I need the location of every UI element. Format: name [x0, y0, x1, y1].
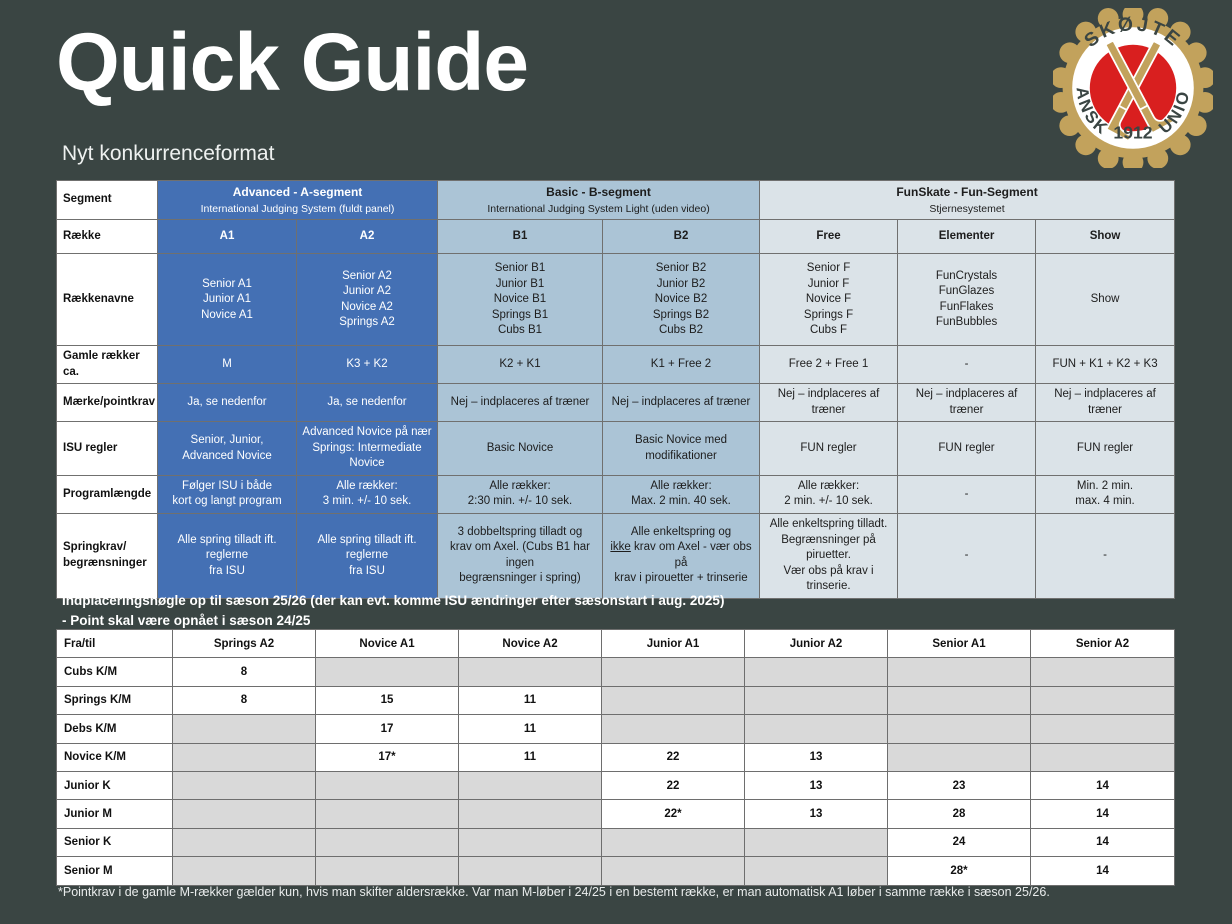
points-cell: 13	[745, 743, 888, 771]
points-cell: 22	[602, 771, 745, 799]
points-cell: 15	[316, 686, 459, 714]
segment-title: Basic - B-segment	[442, 184, 755, 200]
empty-cell	[745, 715, 888, 743]
row-header: Programlængde	[57, 475, 158, 513]
table-cell: Nej – indplaceres af træner	[438, 384, 603, 422]
table-row: Novice K/M17*112213	[57, 743, 1175, 771]
segment-title: Advanced - A-segment	[162, 184, 433, 200]
empty-cell	[173, 857, 316, 885]
table-cell: Basic Novice med modifikationer	[603, 422, 760, 476]
points-cell: 28*	[888, 857, 1031, 885]
table-cell: Senior, Junior,Advanced Novice	[158, 422, 297, 476]
table-cell: Elementer	[898, 220, 1036, 254]
table-row: Senior K2414	[57, 828, 1175, 856]
empty-cell	[316, 771, 459, 799]
dansk-skoejte-union-logo: SKØJTE DANSK UNION 1912	[1053, 8, 1213, 168]
segment-subtitle: International Judging System (fuldt pane…	[162, 202, 433, 216]
points-cell: 11	[459, 686, 602, 714]
empty-cell	[602, 658, 745, 686]
table-cell: Alle spring tilladt ift. reglernefra ISU	[297, 514, 438, 599]
table-cell: B1	[438, 220, 603, 254]
empty-cell	[173, 828, 316, 856]
row-header: Gamle rækker ca.	[57, 346, 158, 384]
row-header: Debs K/M	[57, 715, 173, 743]
table-row: ProgramlængdeFølger ISU i bådekort og la…	[57, 475, 1175, 513]
row-header: Springs K/M	[57, 686, 173, 714]
points-cell: 17	[316, 715, 459, 743]
table-cell: K2 + K1	[438, 346, 603, 384]
table-row: SegmentAdvanced - A-segmentInternational…	[57, 181, 1175, 220]
empty-cell	[459, 800, 602, 828]
empty-cell	[888, 743, 1031, 771]
table-cell: -	[1036, 514, 1175, 599]
row-header: Junior K	[57, 771, 173, 799]
column-header: Senior A1	[888, 630, 1031, 658]
column-header: Novice A2	[459, 630, 602, 658]
table-row: Gamle rækker ca.MK3 + K2K2 + K1K1 + Free…	[57, 346, 1175, 384]
points-cell: 14	[1031, 828, 1175, 856]
column-header: Junior A1	[602, 630, 745, 658]
row-header: ISU regler	[57, 422, 158, 476]
row-header: Rækkenavne	[57, 254, 158, 346]
table-cell: Show	[1036, 220, 1175, 254]
empty-cell	[459, 857, 602, 885]
caption-line: Indplaceringsnøgle op til sæson 25/26 (d…	[62, 591, 1172, 611]
row-header-segment: Segment	[57, 181, 158, 220]
footnote-text: *Pointkrav i de gamle M-rækker gælder ku…	[58, 884, 1188, 900]
table-cell: Senior A2Junior A2Novice A2Springs A2	[297, 254, 438, 346]
column-header: Junior A2	[745, 630, 888, 658]
column-header: Fra/til	[57, 630, 173, 658]
row-header: Mærke/pointkrav	[57, 384, 158, 422]
table-cell: Alle rækker:2:30 min. +/- 10 sek.	[438, 475, 603, 513]
placement-key-table: Fra/tilSprings A2Novice A1Novice A2Junio…	[56, 629, 1175, 886]
column-header: Springs A2	[173, 630, 316, 658]
empty-cell	[316, 857, 459, 885]
table-cell: FUN + K1 + K2 + K3	[1036, 346, 1175, 384]
table-cell: Min. 2 min.max. 4 min.	[1036, 475, 1175, 513]
empty-cell	[459, 658, 602, 686]
points-cell: 24	[888, 828, 1031, 856]
segment-header-basic: Basic - B-segmentInternational Judging S…	[438, 181, 760, 220]
table-cell: Alle enkeltspring ogikke krav om Axel - …	[603, 514, 760, 599]
empty-cell	[173, 743, 316, 771]
table-row: Junior K22132314	[57, 771, 1175, 799]
table-cell: Følger ISU i bådekort og langt program	[158, 475, 297, 513]
points-cell: 8	[173, 686, 316, 714]
segment-header-funskate: FunSkate - Fun-SegmentStjernesystemet	[760, 181, 1175, 220]
segment-subtitle: Stjernesystemet	[764, 202, 1170, 216]
table-cell: Senior B1Junior B1Novice B1Springs B1Cub…	[438, 254, 603, 346]
table-row: Debs K/M1711	[57, 715, 1175, 743]
segment-subtitle: International Judging System Light (uden…	[442, 202, 755, 216]
empty-cell	[1031, 715, 1175, 743]
table-cell: FUN regler	[760, 422, 898, 476]
row-header: Senior M	[57, 857, 173, 885]
empty-cell	[745, 828, 888, 856]
segment-header-advanced: Advanced - A-segmentInternational Judgin…	[158, 181, 438, 220]
points-cell: 22	[602, 743, 745, 771]
points-cell: 13	[745, 771, 888, 799]
points-cell: 14	[1031, 771, 1175, 799]
table-row: Junior M22*132814	[57, 800, 1175, 828]
table-cell: FunCrystalsFunGlazesFunFlakesFunBubbles	[898, 254, 1036, 346]
points-cell: 8	[173, 658, 316, 686]
table-cell: Ja, se nedenfor	[297, 384, 438, 422]
empty-cell	[459, 828, 602, 856]
empty-cell	[316, 828, 459, 856]
table-cell: Show	[1036, 254, 1175, 346]
table-cell: Alle rækker:2 min. +/- 10 sek.	[760, 475, 898, 513]
table-cell: Nej – indplaceres af træner	[898, 384, 1036, 422]
table-cell: A2	[297, 220, 438, 254]
column-header: Senior A2	[1031, 630, 1175, 658]
empty-cell	[316, 658, 459, 686]
table-cell: -	[898, 475, 1036, 513]
table-cell: B2	[603, 220, 760, 254]
table-cell: Nej – indplaceres af træner	[760, 384, 898, 422]
empty-cell	[602, 686, 745, 714]
row-header: Række	[57, 220, 158, 254]
table-cell: -	[898, 346, 1036, 384]
empty-cell	[888, 658, 1031, 686]
table-header-row: Fra/tilSprings A2Novice A1Novice A2Junio…	[57, 630, 1175, 658]
table-cell: M	[158, 346, 297, 384]
table-cell: Alle rækker:3 min. +/- 10 sek.	[297, 475, 438, 513]
empty-cell	[745, 857, 888, 885]
page-subtitle: Nyt konkurrenceformat	[62, 142, 274, 166]
table-cell: Alle spring tilladt ift. reglernefra ISU	[158, 514, 297, 599]
table-row: Cubs K/M8	[57, 658, 1175, 686]
table-cell: Basic Novice	[438, 422, 603, 476]
quick-guide-page: Quick Guide Nyt konkurrenceformat	[0, 0, 1232, 924]
empty-cell	[316, 800, 459, 828]
table-cell: A1	[158, 220, 297, 254]
points-cell: 14	[1031, 857, 1175, 885]
points-cell: 13	[745, 800, 888, 828]
table-cell: Senior FJunior FNovice FSprings FCubs F	[760, 254, 898, 346]
table-cell: Alle rækker:Max. 2 min. 40 sek.	[603, 475, 760, 513]
empty-cell	[173, 800, 316, 828]
empty-cell	[1031, 658, 1175, 686]
empty-cell	[173, 715, 316, 743]
table-cell: K3 + K2	[297, 346, 438, 384]
row-header: Novice K/M	[57, 743, 173, 771]
segment-title: FunSkate - Fun-Segment	[764, 184, 1170, 200]
table-cell: Free	[760, 220, 898, 254]
table-cell: Ja, se nedenfor	[158, 384, 297, 422]
logo-year: 1912	[1113, 122, 1152, 142]
table-row: RækkenavneSenior A1Junior A1Novice A1Sen…	[57, 254, 1175, 346]
placement-caption: Indplaceringsnøgle op til sæson 25/26 (d…	[62, 591, 1172, 630]
empty-cell	[602, 715, 745, 743]
points-cell: 11	[459, 715, 602, 743]
empty-cell	[459, 771, 602, 799]
empty-cell	[888, 715, 1031, 743]
table-cell: Advanced Novice på nærSprings: Intermedi…	[297, 422, 438, 476]
table-row: Senior M28*14	[57, 857, 1175, 885]
empty-cell	[602, 857, 745, 885]
table-cell: Nej – indplaceres af træner	[603, 384, 760, 422]
empty-cell	[602, 828, 745, 856]
row-header: Senior K	[57, 828, 173, 856]
row-header: Junior M	[57, 800, 173, 828]
row-header: Cubs K/M	[57, 658, 173, 686]
caption-line: - Point skal være opnået i sæson 24/25	[62, 611, 1172, 631]
table-cell: -	[898, 514, 1036, 599]
table-cell: 3 dobbeltspring tilladt ogkrav om Axel. …	[438, 514, 603, 599]
table-cell: FUN regler	[1036, 422, 1175, 476]
points-cell: 17*	[316, 743, 459, 771]
points-cell: 11	[459, 743, 602, 771]
table-cell: Senior B2Junior B2Novice B2Springs B2Cub…	[603, 254, 760, 346]
points-cell: 23	[888, 771, 1031, 799]
points-cell: 22*	[602, 800, 745, 828]
empty-cell	[1031, 743, 1175, 771]
competition-format-table: SegmentAdvanced - A-segmentInternational…	[56, 180, 1175, 599]
empty-cell	[1031, 686, 1175, 714]
empty-cell	[745, 658, 888, 686]
points-cell: 14	[1031, 800, 1175, 828]
empty-cell	[173, 771, 316, 799]
table-cell: FUN regler	[898, 422, 1036, 476]
column-header: Novice A1	[316, 630, 459, 658]
row-header: Springkrav/begrænsninger	[57, 514, 158, 599]
table-row: Springs K/M81511	[57, 686, 1175, 714]
page-title: Quick Guide	[56, 22, 528, 104]
table-row: RækkeA1A2B1B2FreeElementerShow	[57, 220, 1175, 254]
points-cell: 28	[888, 800, 1031, 828]
empty-cell	[888, 686, 1031, 714]
table-row: Mærke/pointkravJa, se nedenforJa, se ned…	[57, 384, 1175, 422]
empty-cell	[745, 686, 888, 714]
table-row: Springkrav/begrænsningerAlle spring till…	[57, 514, 1175, 599]
page-header: Quick Guide Nyt konkurrenceformat	[0, 0, 1232, 176]
table-cell: Nej – indplaceres af træner	[1036, 384, 1175, 422]
table-cell: K1 + Free 2	[603, 346, 760, 384]
table-cell: Senior A1Junior A1Novice A1	[158, 254, 297, 346]
table-cell: Free 2 + Free 1	[760, 346, 898, 384]
table-cell: Alle enkeltspring tilladt.Begrænsninger …	[760, 514, 898, 599]
table-row: ISU reglerSenior, Junior,Advanced Novice…	[57, 422, 1175, 476]
